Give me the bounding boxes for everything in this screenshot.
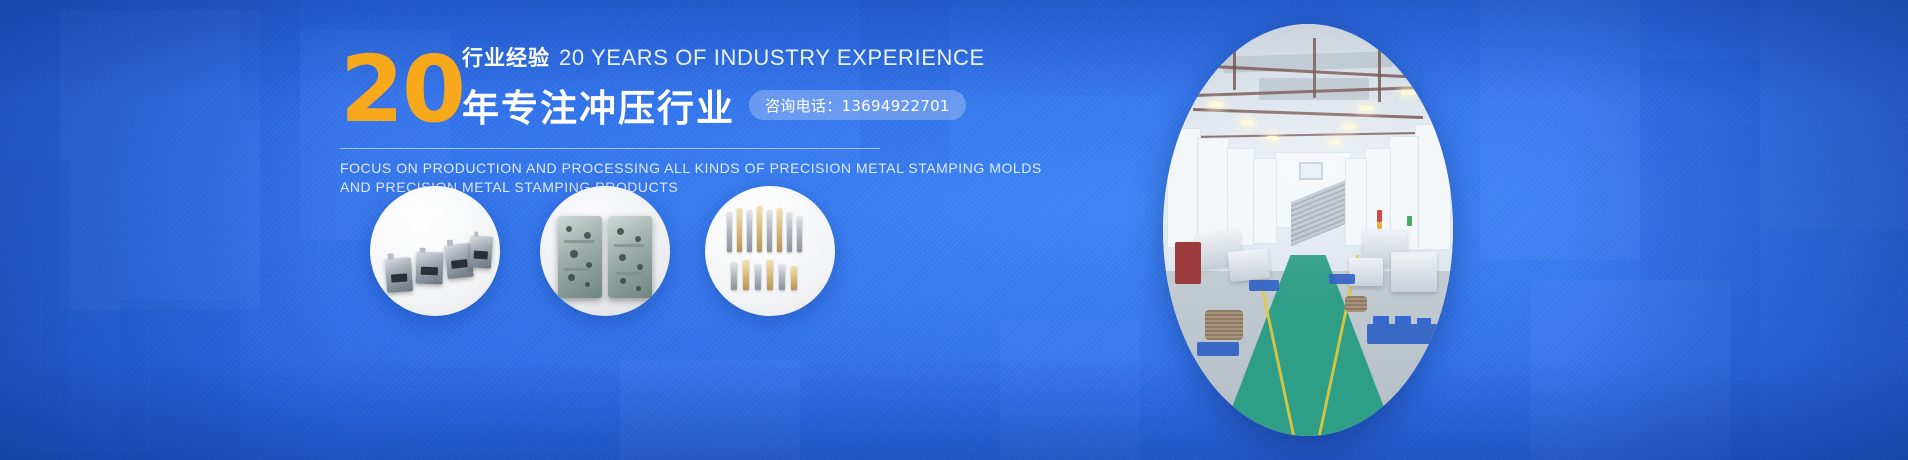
- headline-cn-small: 行业经验: [462, 42, 550, 72]
- product-circle-metal-terminals: [705, 186, 835, 316]
- terminal-contact: [755, 264, 761, 290]
- photo-sheen: [1163, 24, 1453, 436]
- usb-connector-2: [415, 252, 443, 285]
- terminal-contact: [779, 264, 785, 290]
- mold-half-left: [558, 216, 602, 298]
- headline-line-2: 年专注冲压行业 咨询电话：13694922701: [462, 78, 1042, 132]
- terminal-pin: [777, 208, 782, 252]
- divider-rule: [340, 148, 880, 149]
- product-circle-usb-connectors: [370, 186, 500, 316]
- headline-block: 20 行业经验 20 YEARS OF INDUSTRY EXPERIENCE …: [340, 42, 1040, 197]
- product-circle-stamping-mold: [540, 186, 670, 316]
- terminal-pin: [757, 206, 762, 252]
- terminal-pin: [747, 210, 752, 252]
- terminal-pin: [787, 212, 792, 252]
- terminal-contact: [791, 266, 797, 290]
- promo-banner: 20 行业经验 20 YEARS OF INDUSTRY EXPERIENCE …: [0, 0, 1908, 460]
- terminal-contact: [731, 262, 737, 290]
- usb-connector-1: [385, 257, 413, 293]
- years-number: 20: [340, 44, 464, 136]
- terminal-contact: [767, 260, 773, 290]
- headline-line-1: 行业经验 20 YEARS OF INDUSTRY EXPERIENCE: [462, 42, 1042, 72]
- factory-photo: [1163, 24, 1453, 436]
- usb-connector-4: [469, 235, 493, 268]
- subtitle-line-1: FOCUS ON PRODUCTION AND PROCESSING ALL K…: [340, 159, 900, 178]
- headline-en-small: 20 YEARS OF INDUSTRY EXPERIENCE: [559, 45, 985, 71]
- terminal-pin: [767, 210, 772, 252]
- terminal-pin: [797, 216, 802, 252]
- mold-half-right: [608, 216, 652, 298]
- terminal-pin: [727, 212, 732, 252]
- headline-text: 行业经验 20 YEARS OF INDUSTRY EXPERIENCE 年专注…: [462, 42, 1042, 132]
- headline-cn-large: 年专注冲压行业: [462, 78, 735, 132]
- terminal-contact: [743, 260, 749, 290]
- terminal-pin: [737, 208, 742, 252]
- phone-badge[interactable]: 咨询电话：13694922701: [749, 90, 966, 120]
- headline-row: 20 行业经验 20 YEARS OF INDUSTRY EXPERIENCE …: [340, 42, 1040, 140]
